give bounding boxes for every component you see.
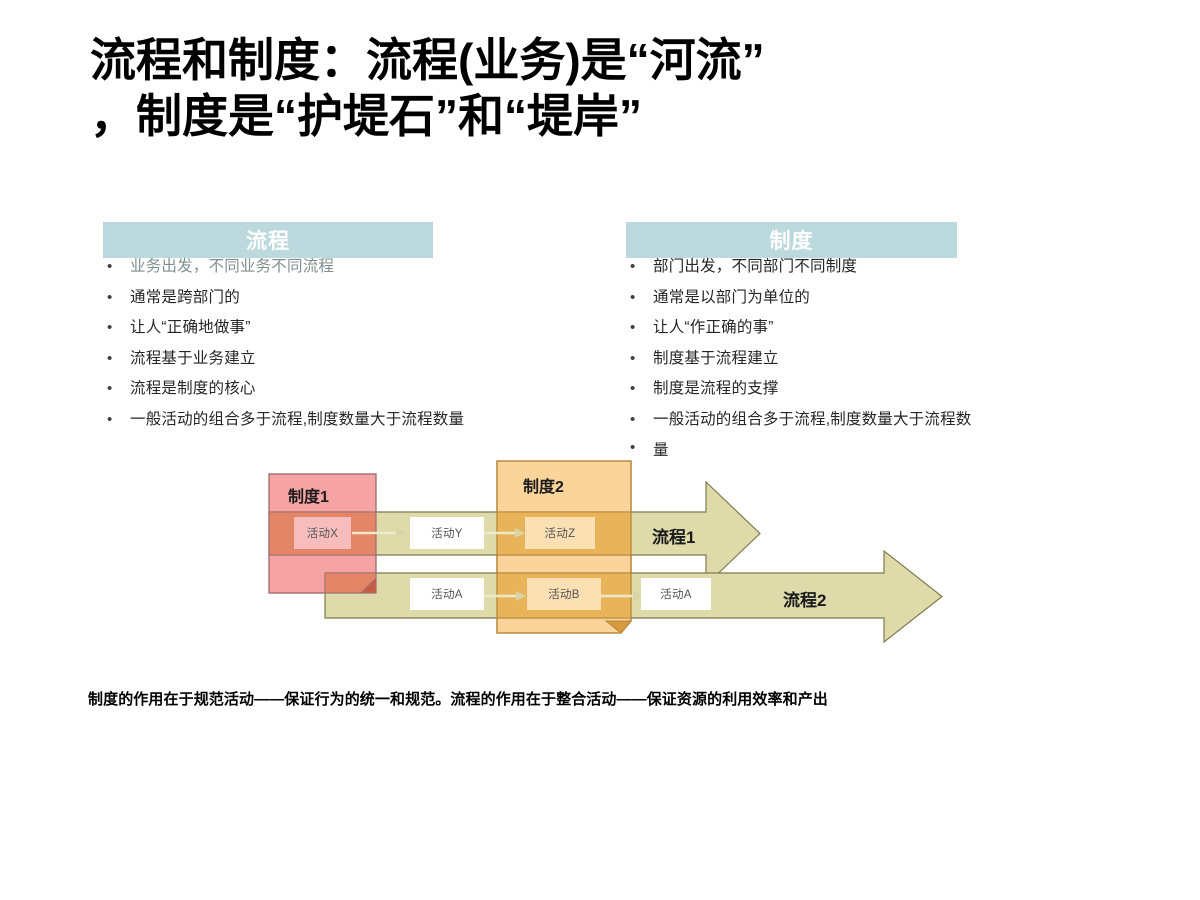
list-item: 业务出发，不同业务不同流程 — [103, 252, 573, 283]
flow-label-2: 流程2 — [783, 586, 826, 611]
comparison-column-process: 流程 业务出发，不同业务不同流程 通常是跨部门的 让人“正确地做事” 流程基于业… — [103, 222, 573, 258]
activity-chip-z: 活动Z — [525, 517, 595, 549]
list-item: 部门出发，不同部门不同制度 — [626, 252, 1086, 283]
slide-canvas: 流程和制度：流程(业务)是“河流” ，制度是“护堤石”和“堤岸” 流程 业务出发… — [0, 0, 1200, 900]
list-item: 让人“作正确的事” — [626, 313, 1086, 344]
column-header-system-label: 制度 — [770, 225, 814, 255]
activity-chip-y: 活动Y — [410, 517, 484, 549]
list-item: 一般活动的组合多于流程,制度数量大于流程数量 — [103, 405, 573, 436]
activity-chip-x: 活动X — [294, 517, 351, 549]
activity-chip-b: 活动B — [527, 578, 601, 610]
list-item-continuation: 量 — [626, 435, 1086, 463]
slide-caption: 制度的作用在于规范活动——保证行为的统一和规范。流程的作用在于整合活动——保证资… — [88, 688, 1118, 709]
list-item: 流程基于业务建立 — [103, 344, 573, 375]
flow-label-1: 流程1 — [652, 523, 695, 548]
column-header-process-label: 流程 — [246, 225, 290, 255]
page-title: 流程和制度：流程(业务)是“河流” ，制度是“护堤石”和“堤岸” — [90, 32, 1110, 144]
process-bullet-list: 业务出发，不同业务不同流程 通常是跨部门的 让人“正确地做事” 流程基于业务建立… — [103, 252, 573, 435]
list-item: 通常是以部门为单位的 — [626, 283, 1086, 314]
system-bullet-list: 部门出发，不同部门不同制度 通常是以部门为单位的 让人“作正确的事” 制度基于流… — [626, 252, 1086, 463]
list-item: 一般活动的组合多于流程,制度数量大于流程数 — [626, 405, 1086, 436]
list-item: 让人“正确地做事” — [103, 313, 573, 344]
list-item: 通常是跨部门的 — [103, 283, 573, 314]
list-item: 制度基于流程建立 — [626, 344, 1086, 375]
list-item: 制度是流程的支撑 — [626, 374, 1086, 405]
note-label-system1: 制度1 — [288, 483, 329, 507]
list-item: 流程是制度的核心 — [103, 374, 573, 405]
comparison-column-system: 制度 部门出发，不同部门不同制度 通常是以部门为单位的 让人“作正确的事” 制度… — [626, 222, 1086, 258]
activity-chip-a1: 活动A — [410, 578, 484, 610]
note-label-system2: 制度2 — [523, 473, 564, 497]
activity-chip-a2: 活动A — [641, 578, 711, 610]
